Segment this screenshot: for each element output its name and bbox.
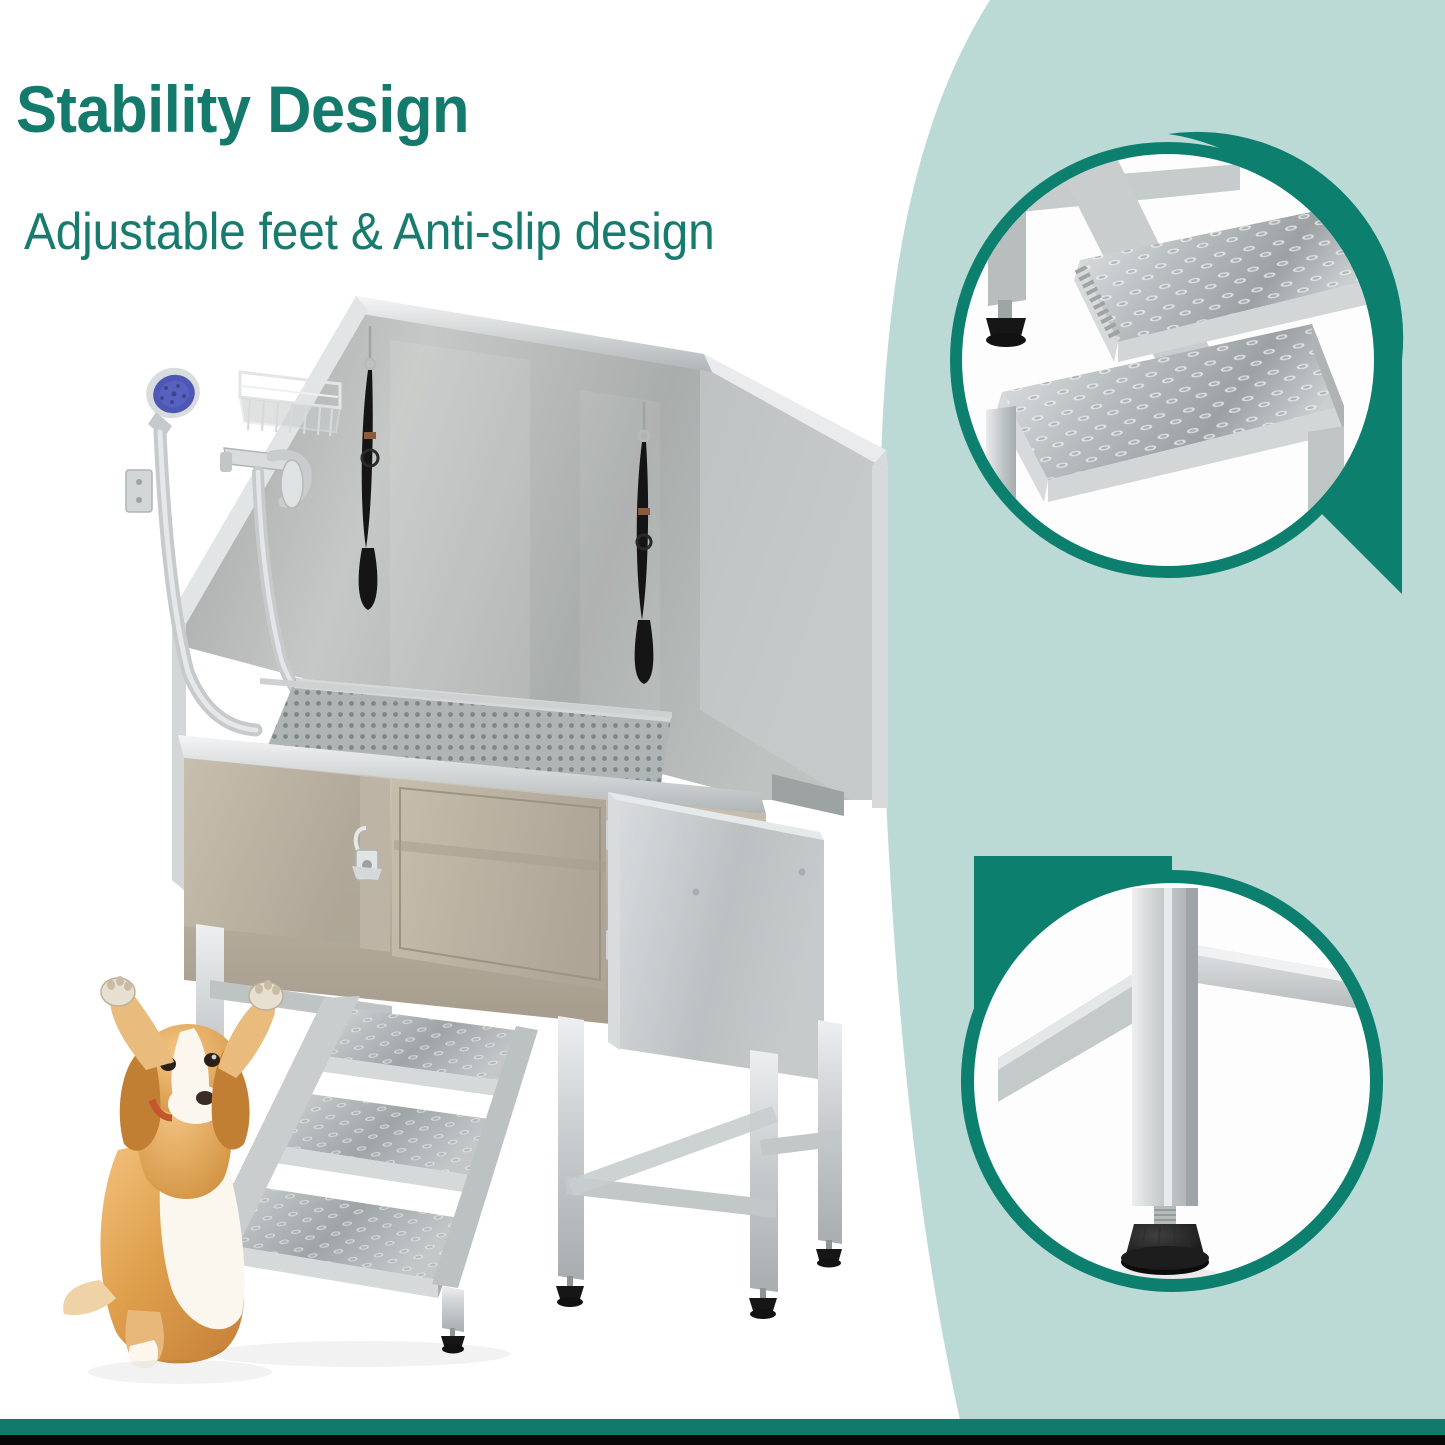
main-product-illustration [60, 280, 940, 1370]
bottom-accent-bar [0, 1419, 1445, 1435]
tub-right-side-panel [608, 792, 824, 1080]
product-feature-banner: Stability Design Adjustable feet & Anti-… [0, 0, 1445, 1445]
anti-slip-steps-detail [940, 110, 1440, 650]
shower-head [140, 361, 207, 438]
page-subtitle: Adjustable feet & Anti-slip design [24, 206, 715, 258]
hose-wall-bracket [126, 470, 152, 512]
bottom-edge-bar [0, 1435, 1445, 1445]
adjustable-foot-detail [910, 826, 1430, 1326]
page-title: Stability Design [16, 76, 469, 142]
cabinet-door-right[interactable] [392, 779, 606, 990]
